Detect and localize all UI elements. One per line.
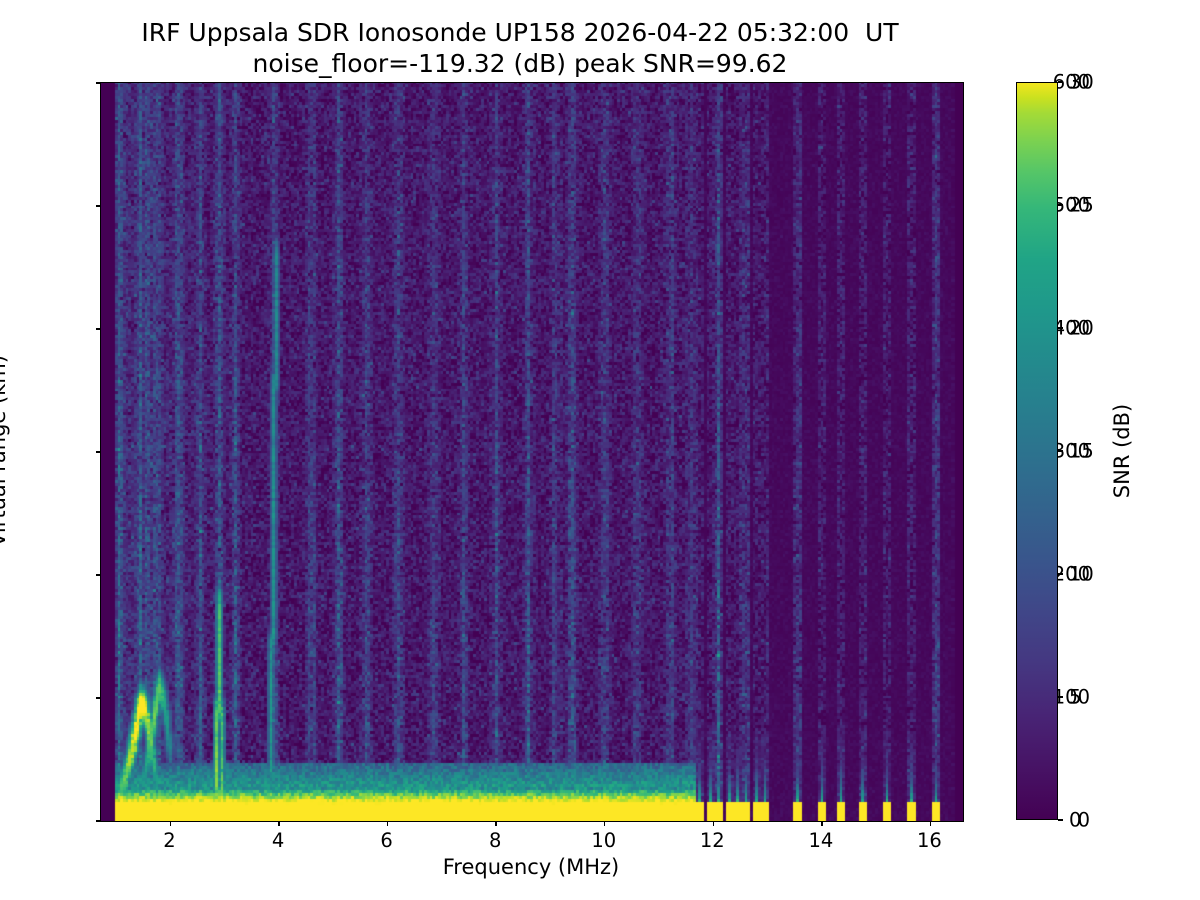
colorbar-tick-mark	[1058, 204, 1063, 205]
x-tick-label: 16	[917, 829, 942, 852]
x-tick-label: 6	[380, 829, 392, 852]
x-tick-mark	[713, 821, 714, 826]
figure-title: IRF Uppsala SDR Ionosonde UP158 2026-04-…	[0, 18, 1040, 79]
title-line-2: noise_floor=-119.32 (dB) peak SNR=99.62	[0, 49, 1040, 80]
x-tick-label: 14	[808, 829, 833, 852]
y-tick-mark	[96, 574, 101, 575]
colorbar-tick-label: 15	[1069, 440, 1094, 463]
x-tick-mark	[821, 821, 822, 826]
colorbar-gradient	[1016, 82, 1058, 820]
x-tick-mark	[930, 821, 931, 826]
y-tick-mark	[96, 451, 101, 452]
colorbar-tick-mark	[1058, 81, 1063, 82]
colorbar-tick-mark	[1058, 450, 1063, 451]
colorbar-tick-mark	[1058, 819, 1063, 820]
colorbar-tick-mark	[1058, 573, 1063, 574]
ionogram-heatmap[interactable]	[101, 83, 963, 821]
x-tick-mark	[278, 821, 279, 826]
y-tick-mark	[96, 328, 101, 329]
y-tick-mark	[96, 697, 101, 698]
x-tick-label: 2	[163, 829, 175, 852]
title-line-1: IRF Uppsala SDR Ionosonde UP158 2026-04-…	[0, 18, 1040, 49]
colorbar-tick-mark	[1058, 327, 1063, 328]
x-tick-label: 8	[489, 829, 501, 852]
ionogram-figure: IRF Uppsala SDR Ionosonde UP158 2026-04-…	[0, 0, 1200, 900]
colorbar-label: SNR (dB)	[1110, 404, 1134, 498]
x-tick-mark	[387, 821, 388, 826]
plot-axes[interactable]	[100, 82, 964, 822]
colorbar[interactable]: 051015202530	[1016, 82, 1058, 820]
y-tick-mark	[96, 82, 101, 83]
y-axis-label: Virtual range (km)	[0, 355, 10, 547]
colorbar-tick-label: 0	[1069, 809, 1081, 832]
y-tick-mark	[96, 820, 101, 821]
colorbar-tick-label: 25	[1069, 194, 1094, 217]
x-tick-label: 4	[272, 829, 284, 852]
colorbar-tick-label: 5	[1069, 686, 1081, 709]
colorbar-tick-label: 30	[1069, 71, 1094, 94]
x-tick-label: 12	[700, 829, 725, 852]
colorbar-tick-label: 10	[1069, 563, 1094, 586]
x-tick-mark	[170, 821, 171, 826]
x-tick-mark	[495, 821, 496, 826]
y-tick-mark	[96, 205, 101, 206]
x-axis-label: Frequency (MHz)	[443, 855, 619, 879]
colorbar-tick-mark	[1058, 696, 1063, 697]
x-tick-mark	[604, 821, 605, 826]
colorbar-tick-label: 20	[1069, 317, 1094, 340]
x-tick-label: 10	[591, 829, 616, 852]
